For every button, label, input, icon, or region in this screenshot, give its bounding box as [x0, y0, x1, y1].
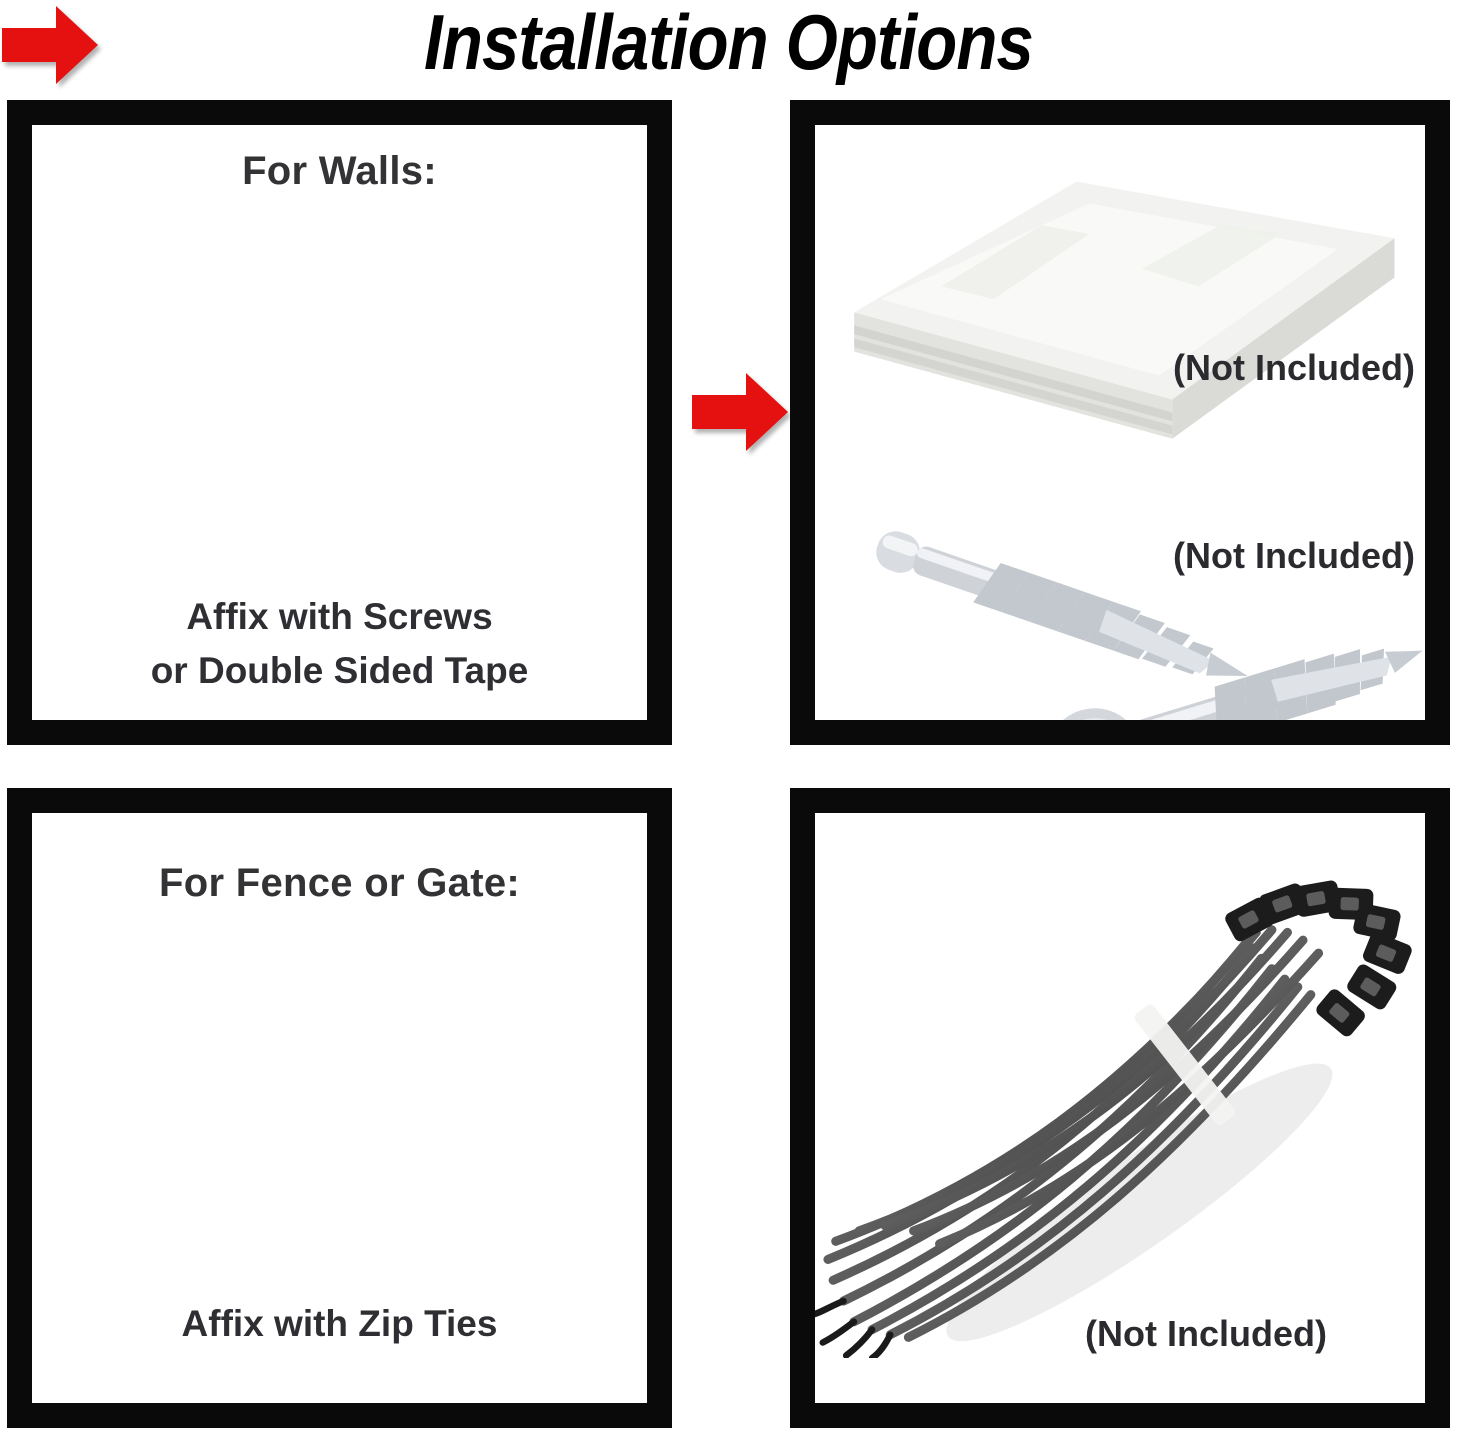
panel-for-fence-or-gate: For Fence or Gate:	[7, 788, 672, 1428]
page-title: Installation Options	[102, 2, 1355, 84]
panel-wall-hardware-inner: (Not Included)	[815, 125, 1425, 720]
heading-for-fence-or-gate: For Fence or Gate:	[32, 861, 647, 906]
panel-for-fence-inner: For Fence or Gate:	[32, 813, 647, 1403]
panel-fence-hardware-inner: (Not Included)	[815, 813, 1425, 1403]
red-right-arrow-icon	[0, 0, 100, 90]
zip-tie-bundle-image	[815, 813, 1425, 1358]
panel-wall-hardware: (Not Included)	[790, 100, 1450, 745]
caption-for-walls: Affix with Screws or Double Sided Tape	[32, 590, 647, 698]
caption-line-1: Affix with Zip Ties	[32, 1297, 647, 1351]
caption-line-1: Affix with Screws	[32, 590, 647, 644]
caption-line-2: or Double Sided Tape	[32, 644, 647, 698]
double-sided-tape-stack-image	[815, 125, 1425, 495]
screws-not-included-label: (Not Included)	[1173, 535, 1415, 577]
zip-ties-not-included-label: (Not Included)	[1085, 1313, 1327, 1355]
panel-for-walls-inner: For Walls: Affix with Screws or Double S…	[32, 125, 647, 720]
panel-for-walls: For Walls: Affix with Screws or Double S…	[7, 100, 672, 745]
caption-for-fence: Affix with Zip Ties	[32, 1297, 647, 1351]
tape-not-included-label: (Not Included)	[1173, 347, 1415, 389]
wood-screws-image	[815, 500, 1425, 720]
red-right-arrow-icon	[690, 367, 790, 457]
installation-options-infographic: Installation Options For Walls: Affix wi…	[0, 0, 1457, 1434]
panel-fence-hardware: (Not Included)	[790, 788, 1450, 1428]
heading-for-walls: For Walls:	[32, 149, 647, 194]
